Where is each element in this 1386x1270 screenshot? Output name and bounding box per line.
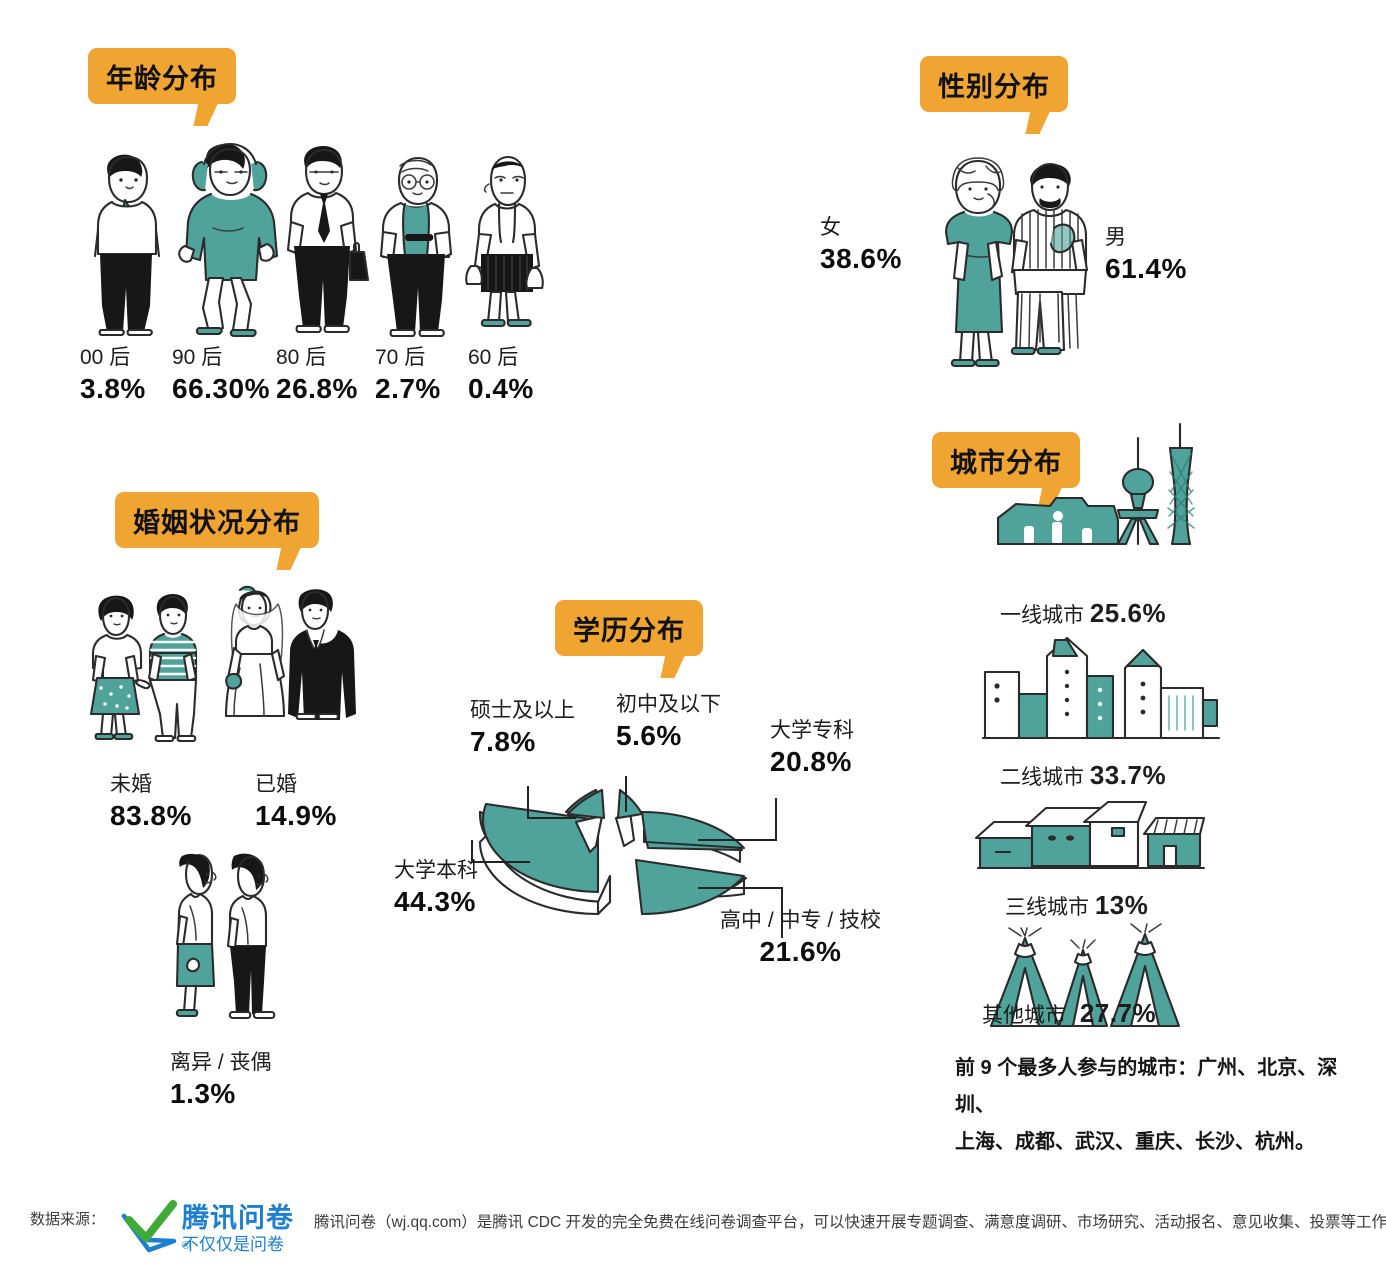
edu-value: 7.8% bbox=[470, 724, 575, 759]
badge-age-distribution: 年龄分布 bbox=[88, 48, 236, 104]
city-tier3-caption: 三线城市 13% bbox=[1005, 890, 1148, 921]
age-label: 70 后 bbox=[375, 345, 441, 371]
age-item-90s: 90 后 66.30% bbox=[172, 345, 270, 406]
edu-label-bachelor: 大学本科 44.3% bbox=[394, 858, 478, 919]
logo-tagline: 不仅仅是问卷 bbox=[182, 1230, 284, 1255]
figure-60s bbox=[465, 148, 549, 338]
age-item-80s: 80 后 26.8% bbox=[276, 345, 358, 406]
city-other-value: 27.7% bbox=[1080, 998, 1156, 1028]
marital-label: 离异 / 丧偶 bbox=[170, 1050, 272, 1076]
age-item-70s: 70 后 2.7% bbox=[375, 345, 441, 406]
section-age-distribution: 年龄分布 bbox=[0, 0, 600, 430]
male-figure bbox=[1012, 164, 1087, 354]
city-tier1-value: 25.6% bbox=[1090, 598, 1166, 628]
marital-item-married: 已婚 14.9% bbox=[255, 772, 337, 833]
marital-item-divorced: 离异 / 丧偶 1.3% bbox=[170, 1050, 272, 1111]
edu-label-master: 硕士及以上 7.8% bbox=[470, 698, 575, 759]
married-couple-illustration bbox=[220, 584, 360, 750]
age-figure-group bbox=[75, 138, 545, 338]
city-tier2-caption: 二线城市 33.7% bbox=[1000, 760, 1166, 791]
pie-slice-junior-high bbox=[616, 790, 642, 846]
unmarried-couple-illustration bbox=[85, 590, 220, 750]
marital-value: 14.9% bbox=[255, 798, 337, 833]
edu-label-junior-high: 初中及以下 5.6% bbox=[616, 692, 721, 753]
city-note-line-1: 前 9 个最多人参与的城市：广州、北京、深圳、 bbox=[955, 1050, 1355, 1124]
edu-label: 高中 / 中专 / 技校 bbox=[720, 908, 881, 934]
age-value: 0.4% bbox=[468, 371, 534, 406]
footer-description: 腾讯问卷（wj.qq.com）是腾讯 CDC 开发的完全免费在线问卷调查平台，可… bbox=[314, 1210, 1386, 1232]
edu-label: 大学专科 bbox=[770, 718, 854, 744]
edu-value: 5.6% bbox=[616, 718, 721, 753]
footer-source-label: 数据来源： bbox=[30, 1208, 105, 1229]
gender-male-label: 男 bbox=[1105, 225, 1187, 251]
edu-value: 21.6% bbox=[720, 934, 881, 969]
gender-female-block: 女 38.6% bbox=[820, 215, 902, 276]
gender-female-label: 女 bbox=[820, 215, 902, 241]
tier3-houses-illustration bbox=[972, 802, 1212, 882]
badge-education-distribution: 学历分布 bbox=[555, 600, 703, 656]
city-tier2-label: 二线城市 bbox=[1000, 766, 1084, 789]
age-value: 66.30% bbox=[172, 371, 270, 406]
logo-name-text: 腾讯问卷 bbox=[182, 1203, 294, 1233]
marital-label: 未婚 bbox=[110, 772, 192, 798]
marital-item-unmarried: 未婚 83.8% bbox=[110, 772, 192, 833]
pie-slice-college bbox=[642, 812, 744, 862]
age-value: 3.8% bbox=[80, 371, 146, 406]
city-top9-note: 前 9 个最多人参与的城市：广州、北京、深圳、 上海、成都、武汉、重庆、长沙、杭… bbox=[955, 1050, 1355, 1161]
section-gender-distribution: 性别分布 bbox=[800, 40, 1270, 400]
city-tier2-value: 33.7% bbox=[1090, 760, 1166, 790]
figure-80s bbox=[280, 140, 364, 338]
age-label: 90 后 bbox=[172, 345, 270, 371]
city-note-line-2: 上海、成都、武汉、重庆、长沙、杭州。 bbox=[955, 1124, 1355, 1161]
age-value: 26.8% bbox=[276, 371, 358, 406]
age-label: 80 后 bbox=[276, 345, 358, 371]
age-label: 00 后 bbox=[80, 345, 146, 371]
figure-00s bbox=[85, 148, 163, 338]
marital-value: 83.8% bbox=[110, 798, 192, 833]
edu-value: 20.8% bbox=[770, 744, 854, 779]
figure-70s bbox=[375, 148, 457, 338]
infographic-canvas: 年龄分布 bbox=[0, 0, 1386, 1270]
tencent-survey-logo: 腾讯问卷® 不仅仅是问卷 bbox=[120, 1194, 300, 1256]
divorced-pair-illustration bbox=[160, 848, 290, 1028]
marital-value: 1.3% bbox=[170, 1076, 272, 1111]
edu-label-high-school: 高中 / 中专 / 技校 21.6% bbox=[720, 908, 881, 969]
city-tier1-label: 一线城市 bbox=[1000, 604, 1084, 627]
gender-male-block: 男 61.4% bbox=[1105, 225, 1187, 286]
city-other-label: 其他城市 bbox=[982, 1004, 1066, 1027]
marital-label: 已婚 bbox=[255, 772, 337, 798]
badge-gender-distribution: 性别分布 bbox=[920, 56, 1068, 112]
badge-marital-distribution: 婚姻状况分布 bbox=[115, 492, 319, 548]
section-city-distribution: 城市分布 一线城市 25.6% bbox=[920, 420, 1370, 1130]
age-value: 2.7% bbox=[375, 371, 441, 406]
edu-label-college: 大学专科 20.8% bbox=[770, 718, 854, 779]
section-education-distribution: 学历分布 bbox=[380, 590, 900, 1010]
city-tier3-value: 13% bbox=[1095, 890, 1149, 920]
city-other-caption: 其他城市 27.7% bbox=[982, 998, 1156, 1029]
age-label: 60 后 bbox=[468, 345, 534, 371]
figure-90s bbox=[175, 138, 277, 338]
edu-label: 硕士及以上 bbox=[470, 698, 575, 724]
city-tier1-caption: 一线城市 25.6% bbox=[1000, 598, 1166, 629]
tier2-buildings-illustration bbox=[975, 638, 1225, 748]
gender-male-value: 61.4% bbox=[1105, 251, 1187, 286]
age-item-00s: 00 后 3.8% bbox=[80, 345, 146, 406]
edu-label: 大学本科 bbox=[394, 858, 478, 884]
age-item-60s: 60 后 0.4% bbox=[468, 345, 534, 406]
city-tier3-label: 三线城市 bbox=[1005, 896, 1089, 919]
female-figure bbox=[946, 158, 1012, 366]
checkmark-logo-icon bbox=[120, 1194, 178, 1252]
edu-value: 44.3% bbox=[394, 884, 478, 919]
gender-couple-illustration bbox=[928, 152, 1118, 392]
tier1-landmarks-illustration bbox=[990, 420, 1210, 585]
footer: 数据来源： 腾讯问卷® 不仅仅是问卷 腾讯问卷（wj.qq.com）是腾讯 CD… bbox=[0, 1180, 1386, 1270]
edu-label: 初中及以下 bbox=[616, 692, 721, 718]
gender-female-value: 38.6% bbox=[820, 241, 902, 276]
